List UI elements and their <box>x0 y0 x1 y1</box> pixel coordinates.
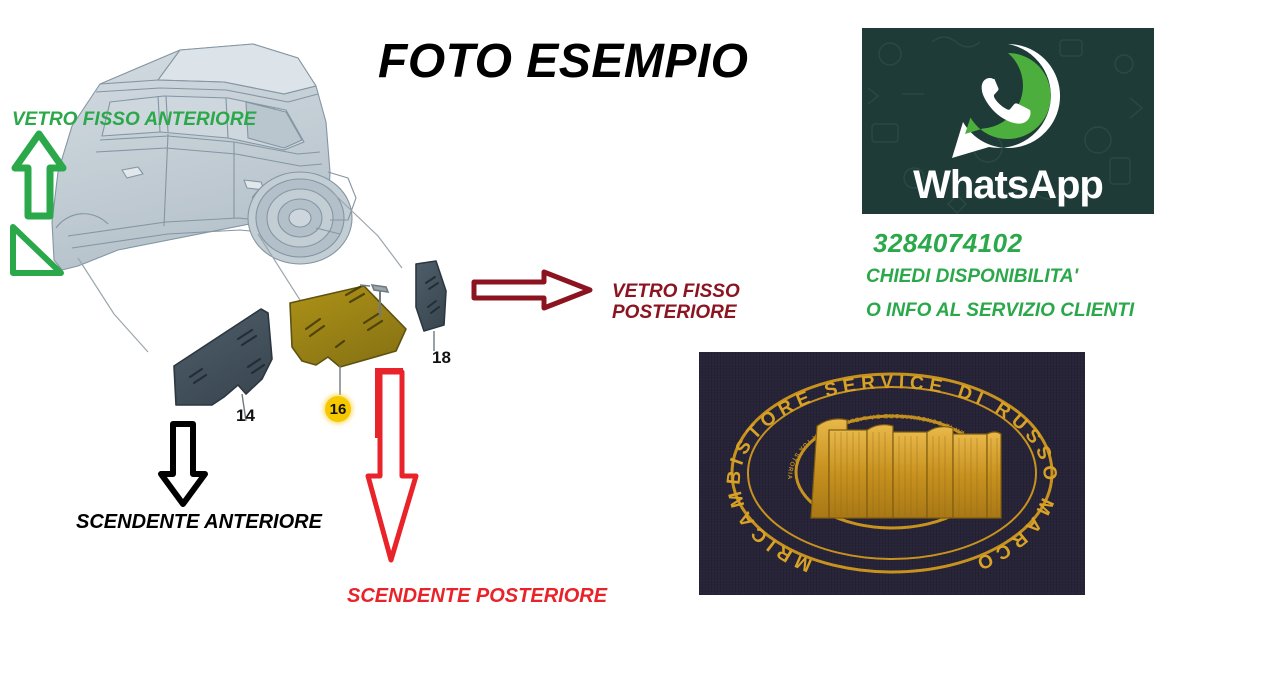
part-number-18: 18 <box>432 348 451 368</box>
red-down-arrow-icon <box>362 368 422 573</box>
brand-logo-photo: MRICAMBISTORE SERVICE DI RUSSO MARCO ALT… <box>699 352 1085 595</box>
green-triangle-icon <box>8 222 66 283</box>
page-title: FOTO ESEMPIO <box>378 34 749 89</box>
green-up-arrow-icon <box>8 130 70 225</box>
phone-number[interactable]: 3284074102 <box>873 228 1023 259</box>
label-rear-fixed-glass: VETRO FISSOPOSTERIORE <box>612 281 740 324</box>
whatsapp-wordmark: WhatsApp <box>862 163 1154 208</box>
red-right-arrow-icon <box>470 268 594 317</box>
part-number-14: 14 <box>236 406 255 426</box>
glass-parts-diagram <box>150 255 480 435</box>
whatsapp-logo-icon <box>944 38 1072 166</box>
whatsapp-banner: WhatsApp <box>862 28 1154 214</box>
label-rear-fixed-glass-line1: VETRO FISSO <box>612 281 740 302</box>
contact-info-line-1: CHIEDI DISPONIBILITA' <box>866 266 1078 288</box>
part-number-16-badge: 16 <box>325 396 351 422</box>
label-rear-fixed-glass-line2: POSTERIORE <box>612 302 737 323</box>
contact-info-line-2: O INFO AL SERVIZIO CLIENTI <box>866 300 1134 322</box>
black-down-arrow-icon <box>155 420 211 513</box>
label-rear-drop-glass: SCENDENTE POSTERIORE <box>347 585 607 607</box>
label-front-drop-glass: SCENDENTE ANTERIORE <box>76 511 322 533</box>
label-front-fixed-glass: VETRO FISSO ANTERIORE <box>12 109 256 130</box>
